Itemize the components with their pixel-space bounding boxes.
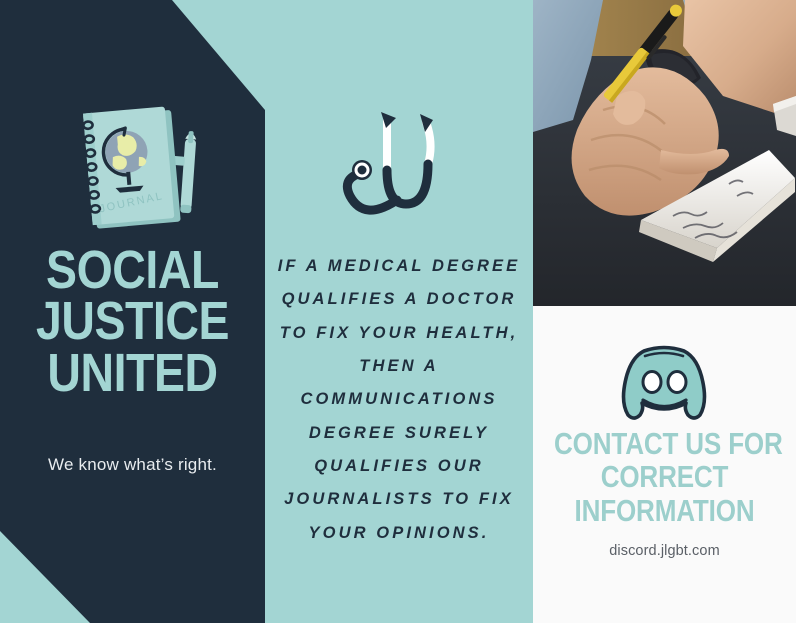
quote-line-5: COMMUNICATIONS	[271, 383, 527, 416]
discord-logo-icon	[614, 345, 714, 423]
quote-line-7: QUALIFIES OUR	[271, 450, 527, 483]
journal-globe-icon: JOURNAL	[66, 101, 216, 236]
quote-line-4: THEN A	[271, 350, 527, 383]
center-quote-panel: IF A MEDICAL DEGREE QUALIFIES A DOCTOR T…	[265, 0, 533, 623]
cta-heading: CONTACT US FOR CORRECT INFORMATION	[554, 427, 775, 527]
right-contact-panel: CONTACT US FOR CORRECT INFORMATION disco…	[533, 0, 796, 623]
quote-line-9: YOUR OPINIONS.	[271, 517, 527, 550]
quote-line-1: IF A MEDICAL DEGREE	[271, 250, 527, 283]
left-brand-panel: JOURNAL SOCIAL JUSTICE UNITED We know wh…	[0, 0, 265, 623]
page-title: SOCIAL JUSTICE UNITED	[19, 245, 247, 399]
cta-line-1: CONTACT US FOR	[554, 427, 775, 460]
cta-line-2: CORRECT	[554, 460, 775, 493]
brand-tagline: We know what’s right.	[0, 455, 265, 475]
quote-line-3: TO FIX YOUR HEALTH,	[271, 317, 527, 350]
title-line-1: SOCIAL	[19, 245, 247, 296]
contact-url[interactable]: discord.jlgbt.com	[533, 543, 796, 559]
quote-line-2: QUALIFIES A DOCTOR	[271, 283, 527, 316]
title-line-3: UNITED	[19, 348, 247, 399]
hand-writing-in-notebook-photo	[533, 0, 796, 306]
quote-line-6: DEGREE SURELY	[271, 417, 527, 450]
quote-line-8: JOURNALISTS TO FIX	[271, 483, 527, 516]
poster-canvas: JOURNAL SOCIAL JUSTICE UNITED We know wh…	[0, 0, 796, 623]
stethoscope-icon	[324, 96, 472, 226]
title-line-2: JUSTICE	[19, 296, 247, 347]
cta-line-3: INFORMATION	[554, 494, 775, 527]
quote-text: IF A MEDICAL DEGREE QUALIFIES A DOCTOR T…	[271, 250, 527, 550]
